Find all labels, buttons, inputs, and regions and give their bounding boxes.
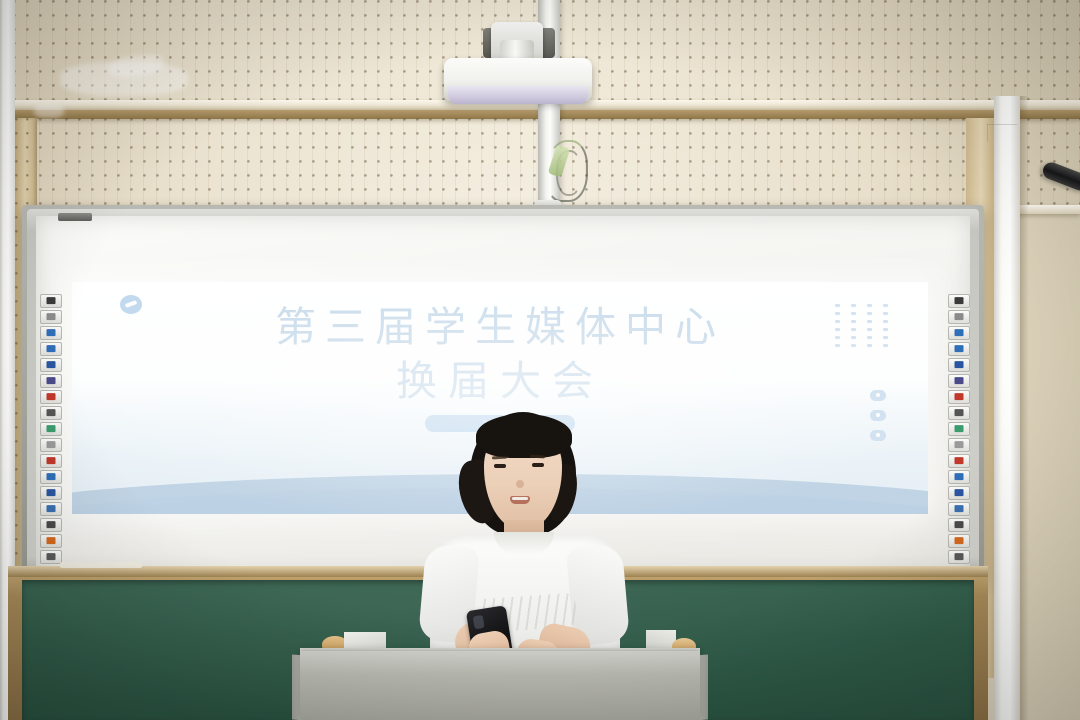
image-icon xyxy=(47,521,56,528)
settings-icon xyxy=(955,537,964,544)
projector-lens xyxy=(448,86,588,104)
eye-right xyxy=(532,463,544,467)
highlighter-icon xyxy=(955,425,964,432)
cursor-icon xyxy=(955,313,964,320)
presenter xyxy=(418,404,628,664)
keyboard-icon xyxy=(955,489,964,496)
text-tool[interactable] xyxy=(40,502,62,516)
pen-icon xyxy=(955,377,964,384)
settings-icon xyxy=(47,537,56,544)
highlighter-tool[interactable] xyxy=(948,422,970,436)
hair-fringe xyxy=(476,414,572,458)
right-wall-pillar xyxy=(994,96,1020,720)
screen-capture-tool[interactable] xyxy=(40,294,62,308)
text-icon xyxy=(47,505,56,512)
page-tool[interactable] xyxy=(948,326,970,340)
info-oval-icon xyxy=(870,410,886,421)
settings-tool[interactable] xyxy=(948,534,970,548)
marker-tool[interactable] xyxy=(40,406,62,420)
cursor-tool[interactable] xyxy=(40,310,62,324)
window-tool[interactable] xyxy=(948,342,970,356)
pen-tool[interactable] xyxy=(40,374,62,388)
eraser-icon xyxy=(47,441,56,448)
marker-icon xyxy=(47,409,56,416)
keyboard-icon xyxy=(47,489,56,496)
cursor-tool[interactable] xyxy=(948,310,970,324)
paint-tool[interactable] xyxy=(40,454,62,468)
keyboard-tool[interactable] xyxy=(948,486,970,500)
text-icon xyxy=(955,505,964,512)
image-tool[interactable] xyxy=(948,518,970,532)
eye-left xyxy=(494,464,506,468)
paint-tool[interactable] xyxy=(948,454,970,468)
monitor-icon xyxy=(955,361,964,368)
shape-icon xyxy=(955,473,964,480)
slide-title-line1: 第三届学生媒体中心 xyxy=(72,300,928,354)
shape-icon xyxy=(47,473,56,480)
pen-tool[interactable] xyxy=(948,374,970,388)
cursor-icon xyxy=(47,313,56,320)
microphone-tool[interactable] xyxy=(40,550,62,564)
red-pen-icon xyxy=(47,393,56,400)
text-tool[interactable] xyxy=(948,502,970,516)
red-pen-tool[interactable] xyxy=(40,390,62,404)
window-icon xyxy=(47,345,56,352)
nose xyxy=(516,480,524,488)
page-icon xyxy=(47,329,56,336)
marker-tool[interactable] xyxy=(948,406,970,420)
chalk-stick[interactable] xyxy=(60,562,142,568)
screen-capture-icon xyxy=(47,297,56,304)
monitor-tool[interactable] xyxy=(40,358,62,372)
right-pillar-shadow xyxy=(1020,96,1029,720)
settings-tool[interactable] xyxy=(40,534,62,548)
microphone-tool[interactable] xyxy=(948,550,970,564)
monitor-tool[interactable] xyxy=(948,358,970,372)
projector-vent-icon xyxy=(987,124,1017,142)
screen-capture-tool[interactable] xyxy=(948,294,970,308)
screen-capture-icon xyxy=(955,297,964,304)
marker-icon xyxy=(955,409,964,416)
dot-oval-icon xyxy=(870,430,886,441)
smartboard-top-clip xyxy=(58,213,92,221)
red-pen-tool[interactable] xyxy=(948,390,970,404)
highlighter-tool[interactable] xyxy=(40,422,62,436)
window-tool[interactable] xyxy=(40,342,62,356)
microphone-icon xyxy=(955,553,964,560)
highlighter-icon xyxy=(47,425,56,432)
image-icon xyxy=(955,521,964,528)
keyboard-tool[interactable] xyxy=(40,486,62,500)
smartboard-right-toolbar[interactable] xyxy=(948,294,970,580)
window-icon xyxy=(955,345,964,352)
shape-tool[interactable] xyxy=(948,470,970,484)
microphone-icon xyxy=(47,553,56,560)
page-icon xyxy=(955,329,964,336)
paint-icon xyxy=(955,457,964,464)
eraser-tool[interactable] xyxy=(948,438,970,452)
ceiling-glare-3 xyxy=(34,104,64,118)
image-tool[interactable] xyxy=(40,518,62,532)
shape-tool[interactable] xyxy=(40,470,62,484)
paint-icon xyxy=(47,457,56,464)
page-tool[interactable] xyxy=(40,326,62,340)
red-pen-icon xyxy=(955,393,964,400)
pen-icon xyxy=(47,377,56,384)
eraser-tool[interactable] xyxy=(40,438,62,452)
mouth xyxy=(510,496,530,504)
monitor-icon xyxy=(47,361,56,368)
classroom-scene: 第三届学生媒体中心 换届大会 2024 xyxy=(0,0,1080,720)
podium: 牡丹江师范学院 MUDANJIANG NORMAL UNIVERSITY xyxy=(300,651,700,720)
eraser-icon xyxy=(955,441,964,448)
smartboard-left-toolbar[interactable] xyxy=(40,294,62,580)
slide-title: 第三届学生媒体中心 换届大会 xyxy=(72,300,928,408)
slide-title-line2: 换届大会 xyxy=(72,354,928,408)
